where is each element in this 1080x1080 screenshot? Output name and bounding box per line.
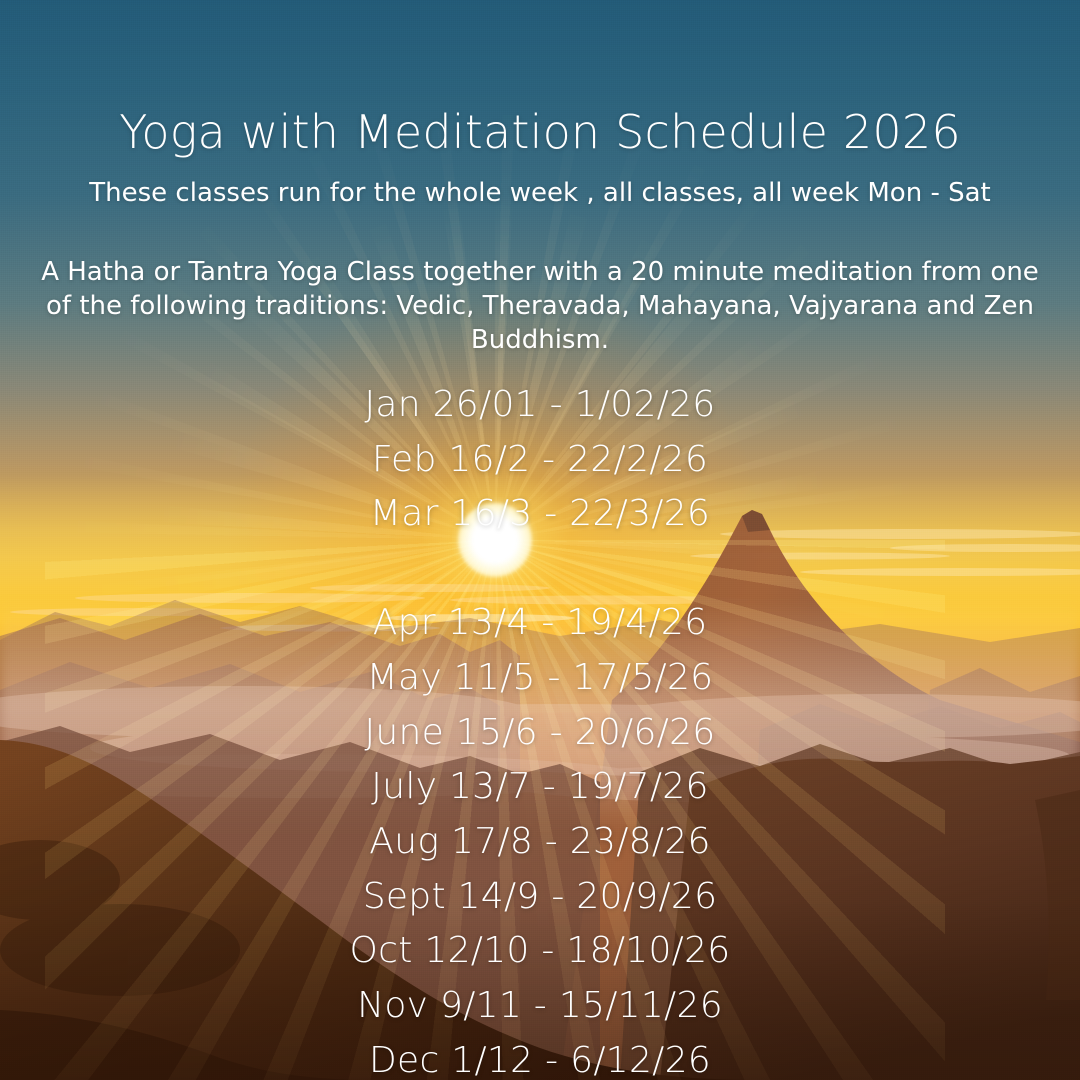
schedule-item-may: May 11/5 - 17/5/26: [0, 651, 1080, 706]
class-description: A Hatha or Tantra Yoga Class together wi…: [28, 255, 1052, 357]
page-subtitle: These classes run for the whole week , a…: [0, 177, 1080, 210]
schedule-item-feb: Feb 16/2 - 22/2/26: [0, 433, 1080, 488]
schedule-list: Jan 26/01 - 1/02/26 Feb 16/2 - 22/2/26 M…: [0, 378, 1080, 1080]
schedule-item-nov: Nov 9/11 - 15/11/26: [0, 979, 1080, 1034]
schedule-item-june: June 15/6 - 20/6/26: [0, 706, 1080, 761]
schedule-item-mar: Mar 16/3 - 22/3/26: [0, 487, 1080, 542]
yoga-schedule-poster: Yoga with Meditation Schedule 2026 These…: [0, 0, 1080, 1080]
schedule-gap: [0, 542, 1080, 596]
schedule-item-sept: Sept 14/9 - 20/9/26: [0, 870, 1080, 925]
schedule-item-oct: Oct 12/10 - 18/10/26: [0, 924, 1080, 979]
description-line: A Hatha or Tantra Yoga Class together wi…: [41, 257, 982, 287]
schedule-item-dec: Dec 1/12 - 6/12/26: [0, 1034, 1080, 1080]
schedule-item-july: July 13/7 - 19/7/26: [0, 760, 1080, 815]
schedule-item-jan: Jan 26/01 - 1/02/26: [0, 378, 1080, 433]
poster-text-overlay: Yoga with Meditation Schedule 2026 These…: [0, 0, 1080, 1080]
page-title: Yoga with Meditation Schedule 2026: [0, 108, 1080, 156]
schedule-item-apr: Apr 13/4 - 19/4/26: [0, 596, 1080, 651]
schedule-item-aug: Aug 17/8 - 23/8/26: [0, 815, 1080, 870]
